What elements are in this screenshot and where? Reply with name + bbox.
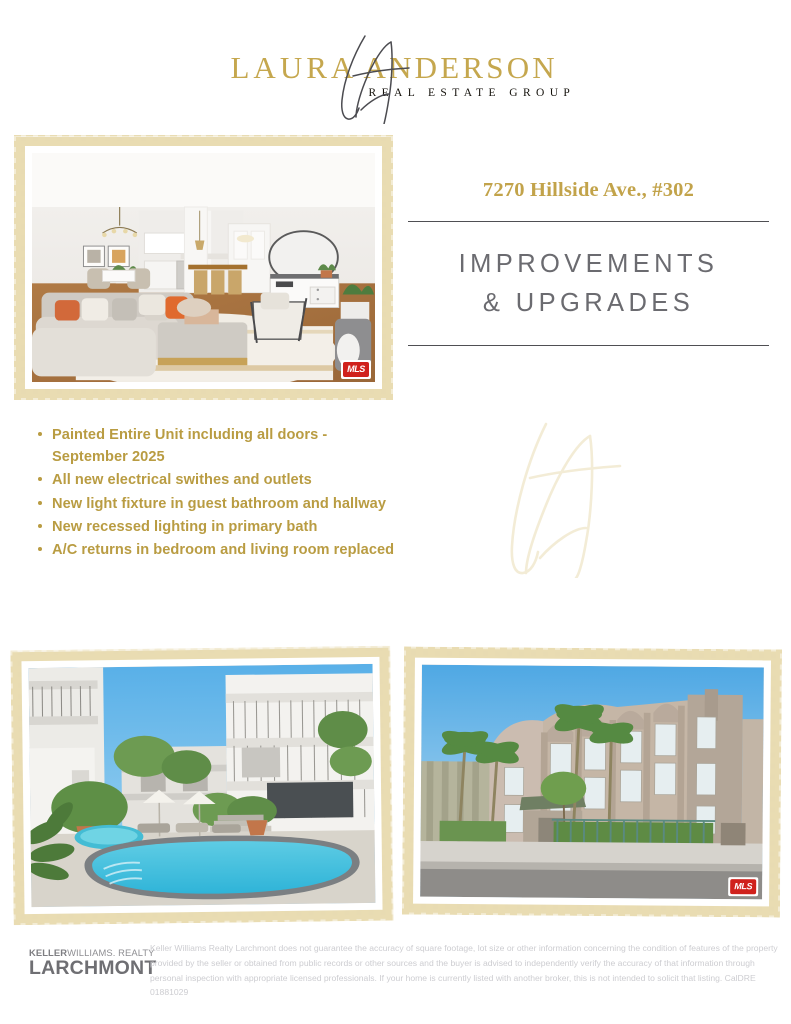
- photo-mat: [21, 657, 382, 914]
- kw-logo-office: LARCHMONT: [29, 959, 147, 979]
- mls-badge: MLS: [341, 360, 371, 379]
- mls-badge-label: MLS: [343, 362, 369, 377]
- page-title: IMPROVEMENTS & UPGRADES: [408, 222, 769, 345]
- list-item: New recessed lighting in primary bath: [52, 516, 402, 538]
- title-block: 7270 Hillside Ave., #302 IMPROVEMENTS & …: [408, 178, 769, 346]
- property-address: 7270 Hillside Ave., #302: [408, 178, 769, 203]
- brand-name-first: LAURA: [231, 52, 358, 83]
- mls-badge-label: MLS: [730, 879, 756, 894]
- brand-name-last: ANDERSON: [364, 52, 558, 83]
- list-item: New light fixture in guest bathroom and …: [52, 493, 402, 515]
- photo-living-room: MLS: [16, 137, 391, 398]
- kw-logo-top: KELLERWILLIAMS. REALTY: [29, 948, 147, 957]
- photo-building-exterior: MLS: [404, 649, 780, 916]
- keller-williams-logo: KELLERWILLIAMS. REALTY LARCHMONT: [29, 948, 147, 979]
- photo-image-living-room: MLS: [32, 153, 375, 382]
- divider-bottom: [408, 345, 769, 346]
- improvements-list: Painted Entire Unit including all doors …: [32, 424, 402, 562]
- photo-image-pool: [29, 664, 376, 907]
- brand-subtitle: REAL ESTATE GROUP: [369, 88, 576, 100]
- photo-mat: MLS: [25, 146, 382, 389]
- photo-mat: MLS: [413, 658, 771, 907]
- kw-logo-keller: KELLER: [29, 947, 67, 958]
- disclaimer-text: Keller Williams Realty Larchmont does no…: [150, 941, 778, 1000]
- brand-header: LAURA ANDERSON REAL ESTATE GROUP: [0, 38, 791, 116]
- kw-logo-rest: WILLIAMS. REALTY: [67, 947, 154, 958]
- list-item: All new electrical swithes and outlets: [52, 469, 402, 491]
- page-title-line2: & UPGRADES: [408, 284, 769, 324]
- list-item: Painted Entire Unit including all doors …: [52, 424, 402, 468]
- photo-pool-courtyard: [12, 648, 391, 924]
- photo-image-building: MLS: [420, 665, 764, 900]
- mls-badge: MLS: [728, 877, 758, 896]
- list-item: A/C returns in bedroom and living room r…: [52, 539, 402, 561]
- la-watermark-icon: [498, 418, 643, 578]
- page-title-line1: IMPROVEMENTS: [459, 250, 719, 278]
